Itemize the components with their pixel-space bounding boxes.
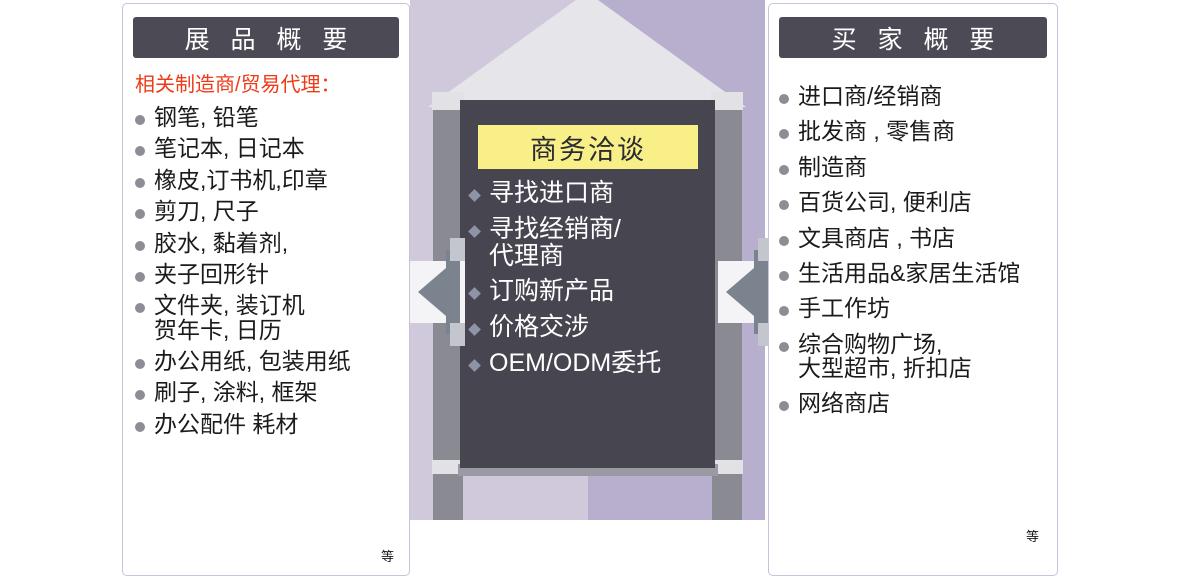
bullet-dot-icon (779, 271, 789, 281)
exhibits-overview-panel: 展 品 概 要 相关制造商/贸易代理： 钢笔, 铅笔 笔记本, 日记本 橡皮,订… (122, 3, 410, 576)
bullet-diamond-icon (468, 225, 481, 238)
list-item-label: 办公用纸, 包装用纸 (154, 349, 351, 373)
bullet-diamond-icon (468, 287, 481, 300)
list-item: 综合购物广场, 大型超市, 折扣店 (769, 332, 1057, 381)
center-bullet-list: 寻找进口商 寻找经销商/ 代理商 订购新产品 价格交涉 OEM/ODM委托 (470, 180, 715, 386)
bullet-dot-icon (135, 390, 145, 400)
center-list-item: OEM/ODM委托 (470, 350, 715, 377)
bullet-dot-icon (135, 303, 145, 313)
list-item: 橡皮,订书机,印章 (123, 168, 409, 192)
bullet-diamond-icon (468, 359, 481, 372)
list-item: 手工作坊 (769, 296, 1057, 320)
center-item-label: OEM/ODM委托 (489, 350, 661, 377)
list-item: 网络商店 (769, 391, 1057, 415)
list-item-label: 夹子回形针 (154, 262, 269, 286)
list-item: 批发商 , 零售商 (769, 119, 1057, 143)
bullet-dot-icon (779, 165, 789, 175)
center-stage-graphic: 商务洽谈 寻找进口商 寻找经销商/ 代理商 订购新产品 价格交涉 OEM/ODM… (410, 0, 765, 581)
list-item: 刷子, 涂料, 框架 (123, 380, 409, 404)
center-list-item: 价格交涉 (470, 314, 715, 341)
panel-subtitle-exhibits: 相关制造商/贸易代理： (135, 68, 409, 97)
list-item-label: 刷子, 涂料, 框架 (154, 380, 318, 404)
list-item: 制造商 (769, 155, 1057, 179)
arrow-left-icon (718, 228, 773, 356)
list-item: 百货公司, 便利店 (769, 190, 1057, 214)
list-item-label: 百货公司, 便利店 (798, 190, 972, 214)
list-item: 夹子回形针 (123, 262, 409, 286)
list-item-label: 手工作坊 (798, 296, 890, 320)
list-item: 办公配件 耗材 (123, 412, 409, 436)
bullet-dot-icon (779, 236, 789, 246)
bullet-diamond-icon (468, 189, 481, 202)
list-item-label: 进口商/经销商 (798, 84, 942, 108)
bullet-dot-icon (135, 241, 145, 251)
center-list-item: 寻找经销商/ 代理商 (470, 216, 715, 270)
bullet-dot-icon (779, 342, 789, 352)
list-item-label: 生活用品&家居生活馆 (798, 261, 1020, 285)
bullet-dot-icon (779, 200, 789, 210)
list-item: 办公用纸, 包装用纸 (123, 349, 409, 373)
bullet-dot-icon (135, 115, 145, 125)
list-item: 剪刀, 尺子 (123, 199, 409, 223)
exhibits-bullet-list: 钢笔, 铅笔 笔记本, 日记本 橡皮,订书机,印章 剪刀, 尺子 胶水, 黏着剂… (123, 105, 409, 436)
list-item: 钢笔, 铅笔 (123, 105, 409, 129)
etc-label-left: 等 (381, 546, 394, 565)
bullet-dot-icon (779, 401, 789, 411)
business-negotiation-banner: 商务洽谈 (478, 125, 698, 169)
bullet-diamond-icon (468, 323, 481, 336)
list-item-label: 综合购物广场, 大型超市, 折扣店 (798, 332, 972, 381)
buyers-bullet-list: 进口商/经销商 批发商 , 零售商 制造商 百货公司, 便利店 文具商店 , 书… (769, 84, 1057, 416)
list-item-label: 橡皮,订书机,印章 (154, 168, 328, 192)
center-item-label: 订购新产品 (489, 278, 614, 305)
center-list-item: 寻找进口商 (470, 180, 715, 207)
list-item-label: 办公配件 耗材 (154, 412, 298, 436)
center-item-label: 价格交涉 (489, 314, 589, 341)
center-item-label: 寻找经销商/ 代理商 (489, 216, 621, 270)
center-item-label: 寻找进口商 (489, 180, 614, 207)
signpost-cap-top-right (711, 92, 743, 110)
panel-title-exhibits: 展 品 概 要 (133, 17, 399, 58)
bullet-dot-icon (135, 422, 145, 432)
list-item: 文具商店 , 书店 (769, 226, 1057, 250)
list-item: 胶水, 黏着剂, (123, 231, 409, 255)
panel-title-buyers: 买 家 概 要 (779, 17, 1047, 58)
list-item-label: 钢笔, 铅笔 (154, 105, 259, 129)
list-item-label: 笔记本, 日记本 (154, 136, 305, 160)
buyers-overview-panel: 买 家 概 要 进口商/经销商 批发商 , 零售商 制造商 百货公司, 便利店 … (768, 3, 1058, 576)
list-item-label: 文件夹, 装订机 贺年卡, 日历 (154, 293, 305, 342)
list-item-label: 批发商 , 零售商 (798, 119, 955, 143)
list-item-label: 剪刀, 尺子 (154, 199, 259, 223)
list-item: 笔记本, 日记本 (123, 136, 409, 160)
list-item-label: 制造商 (798, 155, 867, 179)
list-item: 文件夹, 装订机 贺年卡, 日历 (123, 293, 409, 342)
arrow-left-icon (410, 228, 465, 356)
list-item: 生活用品&家居生活馆 (769, 261, 1057, 285)
bullet-dot-icon (135, 178, 145, 188)
list-item: 进口商/经销商 (769, 84, 1057, 108)
bullet-dot-icon (135, 209, 145, 219)
center-list-item: 订购新产品 (470, 278, 715, 305)
bullet-dot-icon (135, 146, 145, 156)
bullet-dot-icon (779, 306, 789, 316)
list-item-label: 胶水, 黏着剂, (154, 231, 288, 255)
bullet-dot-icon (135, 272, 145, 282)
bullet-dot-icon (779, 94, 789, 104)
list-item-label: 文具商店 , 书店 (798, 226, 955, 250)
etc-label-right: 等 (1026, 526, 1039, 545)
bullet-dot-icon (135, 359, 145, 369)
list-item-label: 网络商店 (798, 391, 890, 415)
bullet-dot-icon (779, 129, 789, 139)
